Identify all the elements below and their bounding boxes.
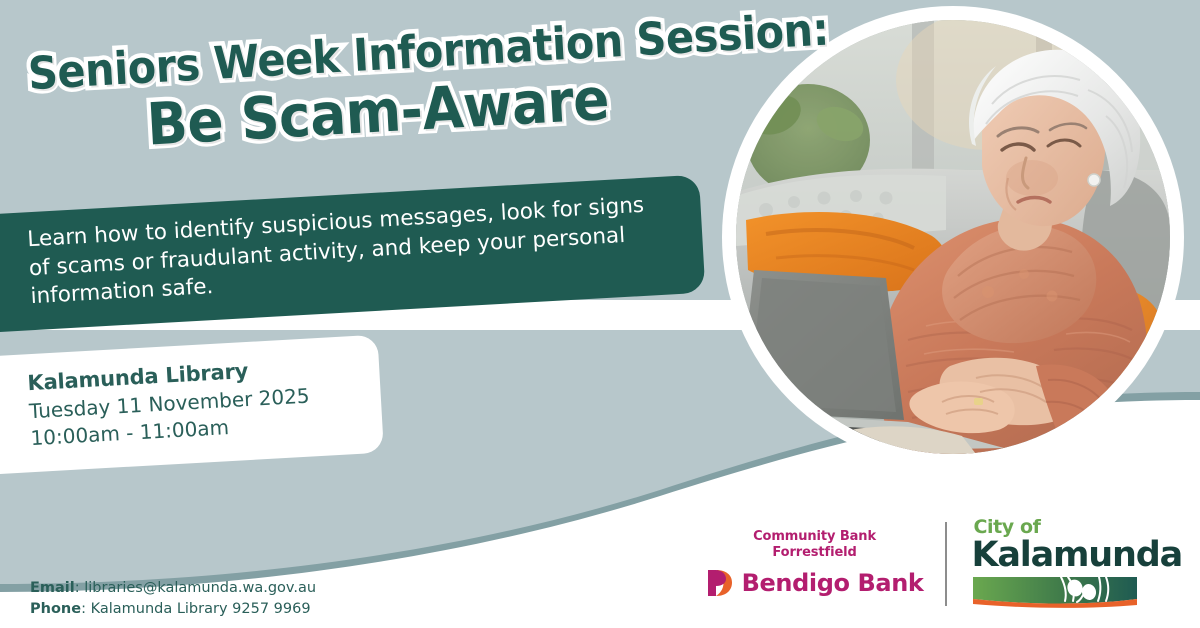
city-of-kalamunda-logo: City of Kalamunda — [947, 518, 1182, 609]
senior-using-laptop-photo — [736, 20, 1170, 454]
bendigo-b-icon — [706, 568, 734, 598]
contact-email-label: Email — [30, 580, 75, 596]
photo-circle — [736, 20, 1170, 454]
kalamunda-gumnut-icon — [971, 575, 1139, 609]
bendigo-bank-logo: Community Bank Forrestfield Bendigo Bank — [706, 529, 946, 599]
logo-row: Community Bank Forrestfield Bendigo Bank… — [706, 518, 1182, 609]
event-details-inner: Kalamunda Library Tuesday 11 November 20… — [27, 355, 312, 453]
description-text: Learn how to identify suspicious message… — [27, 191, 661, 312]
bendigo-wordmark-row: Bendigo Bank — [706, 568, 924, 598]
contact-email-value[interactable]: : libraries@kalamunda.wa.gov.au — [75, 580, 316, 596]
kalamunda-name-text: Kalamunda — [971, 538, 1182, 573]
contact-email-row: Email: libraries@kalamunda.wa.gov.au — [30, 578, 316, 599]
poster-canvas: Seniors Week Information Session: Be Sca… — [0, 0, 1200, 628]
bendigo-community-bank-line2: Forrestfield — [706, 545, 924, 561]
contact-phone-row: Phone: Kalamunda Library 9257 9969 — [30, 599, 316, 620]
bendigo-community-bank-line1: Community Bank — [706, 529, 924, 545]
bendigo-bank-wordmark: Bendigo Bank — [742, 569, 924, 597]
photo-ring — [722, 6, 1184, 468]
event-details-panel: Kalamunda Library Tuesday 11 November 20… — [0, 335, 384, 476]
contact-block: Email: libraries@kalamunda.wa.gov.au Pho… — [30, 578, 316, 619]
contact-phone-value[interactable]: : Kalamunda Library 9257 9969 — [81, 601, 310, 617]
contact-phone-label: Phone — [30, 601, 81, 617]
